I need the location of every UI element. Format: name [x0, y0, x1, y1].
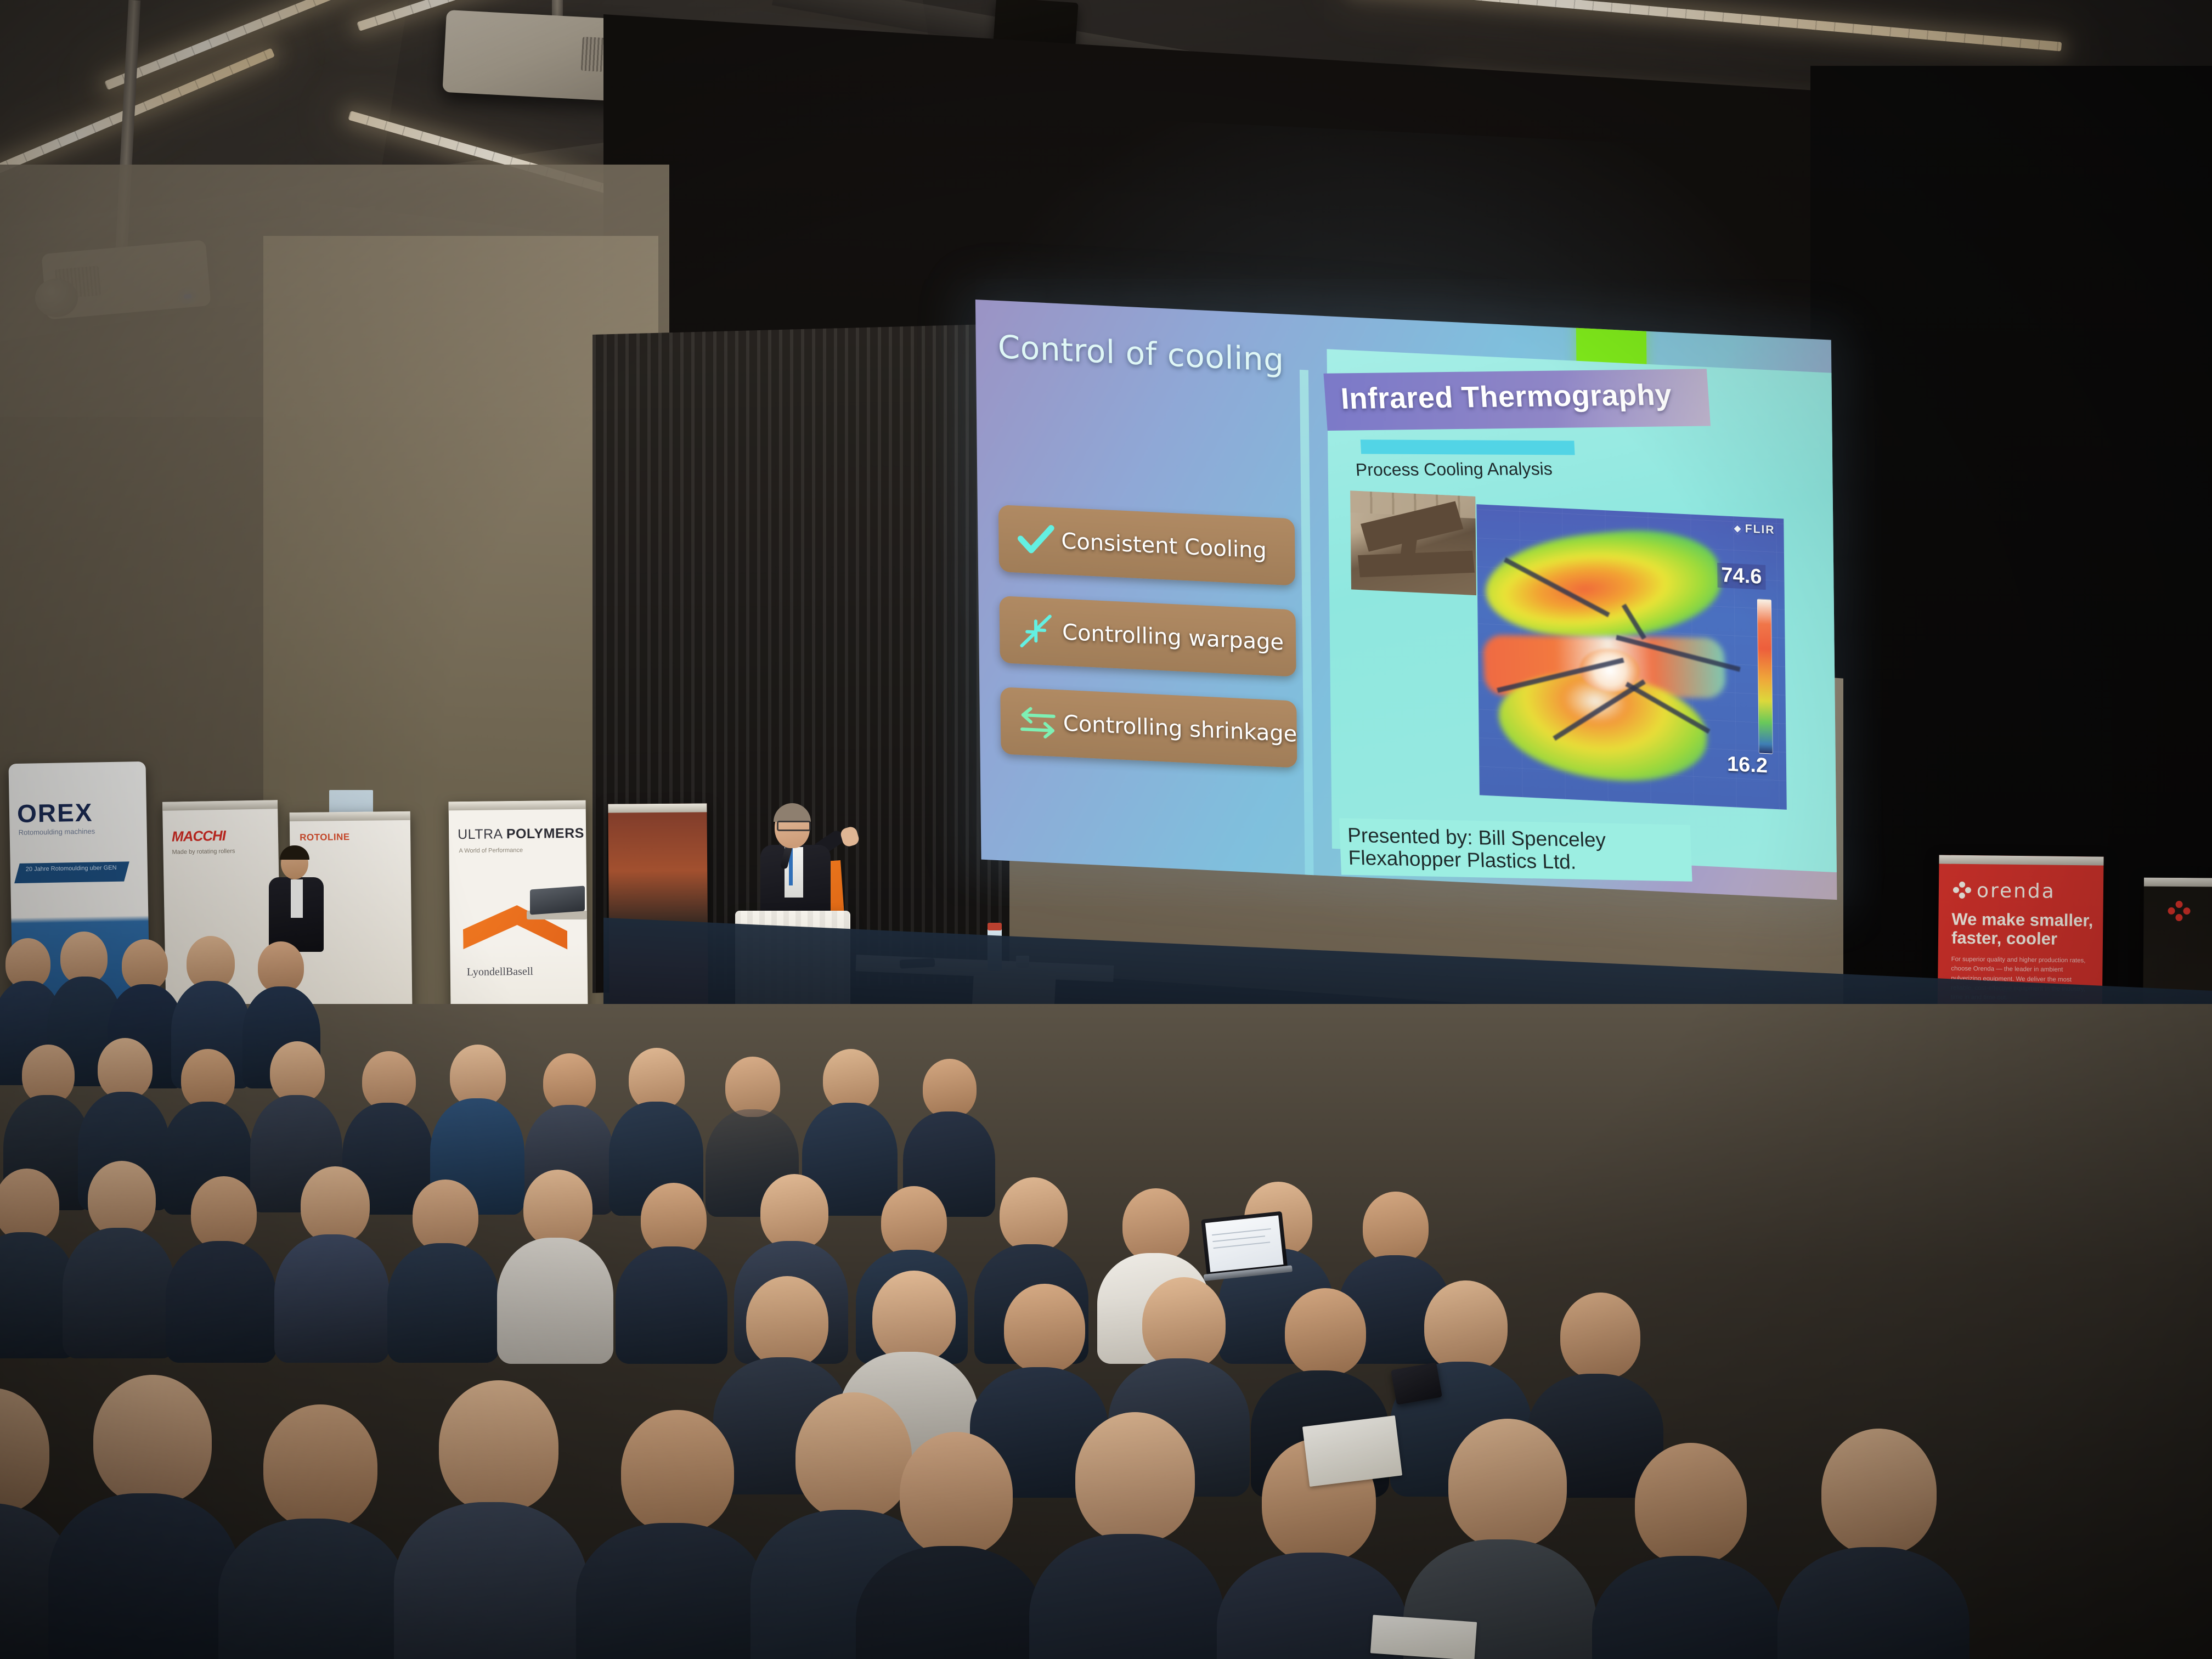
water-bottle-cap [988, 923, 1002, 930]
ultra-light-word: ULTRA [458, 826, 503, 842]
handout-paper [1302, 1415, 1402, 1487]
audience-row-front-left [0, 1328, 998, 1659]
check-icon [1011, 522, 1062, 558]
thermal-max-temp: 74.6 [1717, 563, 1765, 590]
orex-tagline: Rotomoulding machines [19, 827, 95, 836]
slide-bullet-list: Consistent Cooling Controlling warpage [998, 505, 1297, 792]
audience-row-front-right [911, 1361, 2212, 1659]
bullet-label: Controlling warpage [1062, 620, 1284, 656]
section-heading-underline [1361, 439, 1575, 455]
rotomoulding-machine-photo [1350, 490, 1476, 595]
section-heading: Infrared Thermography [1340, 377, 1758, 416]
banner-rail [1939, 855, 2103, 865]
thermal-color-scale [1757, 599, 1773, 754]
bullet-controlling-shrinkage: Controlling shrinkage [1000, 687, 1297, 768]
presenter-glasses [777, 821, 811, 831]
slide-surface: Control of cooling Consistent Cooling [975, 300, 1837, 900]
presenter-credit: Presented by: Bill Spenceley Flexahopper… [1339, 818, 1692, 881]
machine-base [1358, 551, 1475, 577]
bidirectional-arrows-icon [1013, 704, 1064, 740]
banner-rail [290, 811, 410, 821]
bullet-consistent-cooling: Consistent Cooling [998, 505, 1295, 586]
flir-logo: FLIR [1734, 522, 1775, 537]
orex-strip: 20 Jahre Rotomoulding uber GEN [14, 861, 129, 883]
orenda-mark-icon [1953, 881, 1972, 900]
orenda-wordmark: orenda [1977, 879, 2056, 903]
orex-strip-text: 20 Jahre Rotomoulding uber GEN [26, 865, 117, 873]
macchi-tagline: Made by rotating rollers [172, 848, 235, 856]
conference-photo-scene: Control of cooling Consistent Cooling [0, 0, 2212, 1659]
person-hair [280, 845, 309, 860]
bullet-controlling-warpage: Controlling warpage [1000, 596, 1296, 677]
ultra-polymers-wordmark: ULTRA POLYMERS [458, 826, 584, 843]
thermal-image: FLIR 74.6 16.2 [1476, 504, 1787, 810]
bullet-label: Controlling shrinkage [1063, 711, 1297, 747]
subheading: Process Cooling Analysis [1355, 459, 1553, 480]
thermal-min-temp: 16.2 [1727, 753, 1768, 778]
handout-paper [1370, 1615, 1477, 1659]
bullet-label: Consistent Cooling [1061, 528, 1267, 563]
presenter-hair [774, 803, 811, 822]
rotoline-wordmark: ROTOLINE [300, 832, 350, 843]
flir-wordmark: FLIR [1745, 522, 1775, 537]
orex-wordmark: OREX [17, 798, 93, 828]
pulva-mark-icon [2163, 901, 2196, 925]
banner-rail [449, 800, 586, 811]
orenda-tagline: We make smaller, faster, cooler [1951, 910, 2095, 949]
slide-title: Control of cooling [997, 328, 1284, 379]
flir-diamond-icon [1732, 523, 1743, 534]
banner-rail [608, 803, 707, 812]
ultra-polymers-tagline: A World of Performance [459, 847, 523, 854]
projection-screen: Control of cooling Consistent Cooling [940, 143, 1847, 932]
banner-rail [2144, 878, 2212, 887]
ultra-bold-word: POLYMERS [506, 826, 584, 842]
banner-rail [162, 800, 278, 811]
orenda-logo: orenda [1953, 879, 2056, 903]
converging-arrows-icon [1012, 610, 1063, 652]
slide-vertical-divider [1300, 370, 1314, 900]
macchi-wordmark: MACCHI [172, 827, 226, 845]
